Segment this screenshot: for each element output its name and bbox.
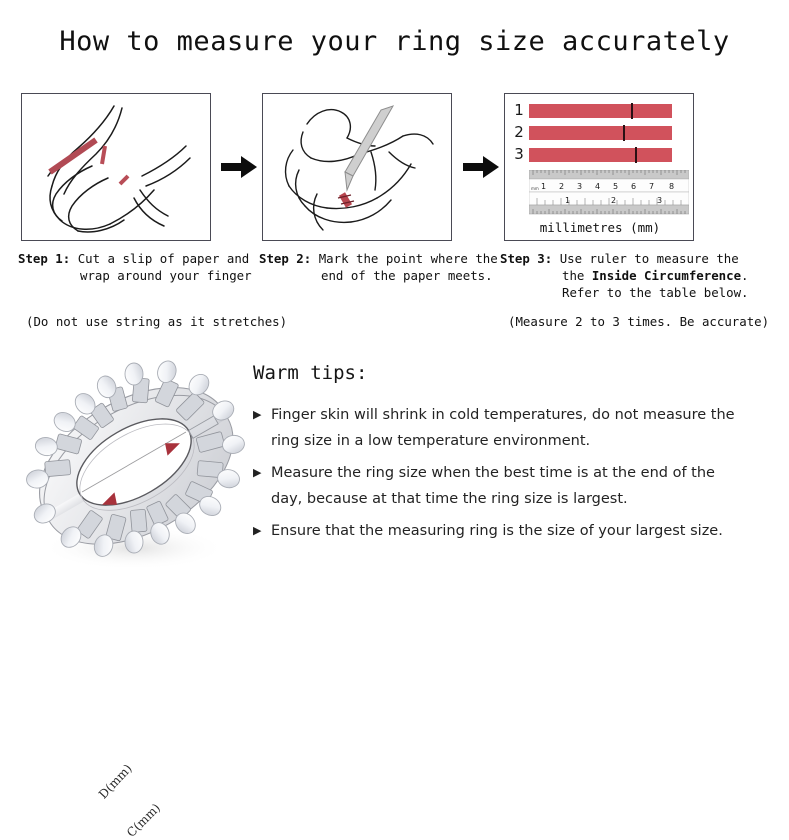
hand-marking-with-pen-icon — [263, 94, 451, 240]
tip-item: ▶ Finger skin will shrink in cold temper… — [253, 402, 773, 454]
tip-text: Finger skin will shrink in cold temperat… — [271, 402, 739, 454]
tip-text: Measure the ring size when the best time… — [271, 460, 739, 512]
triangle-bullet-icon: ▶ — [253, 518, 271, 544]
measured-paper-strips: 1 2 3 — [511, 102, 689, 168]
strip-mark — [623, 125, 625, 141]
svg-text:1: 1 — [565, 196, 570, 205]
ring-diameter-label: D(mm) — [96, 761, 135, 801]
step-arrow-2-icon — [461, 153, 501, 181]
ruler-illustration: 123 456 78 mm 123 — [529, 170, 689, 216]
step-3-line-2-prefix: the — [562, 268, 592, 283]
strip-number: 1 — [511, 103, 527, 118]
step-2-line-2: end of the paper meets. — [321, 268, 493, 283]
ruler-unit-caption: millimetres (mm) — [505, 220, 694, 235]
step-1-line-2: wrap around your finger — [80, 268, 252, 283]
strip-mark — [635, 147, 637, 163]
strip-row: 1 — [511, 102, 689, 119]
svg-text:2: 2 — [611, 196, 616, 205]
step-arrow-1-icon — [219, 153, 259, 181]
strip-row: 2 — [511, 124, 689, 141]
step-3-line-2-suffix: . — [741, 268, 748, 283]
warm-tips-section: Warm tips: ▶ Finger skin will shrink in … — [253, 362, 773, 550]
step-3-note: (Measure 2 to 3 times. Be accurate) — [508, 314, 769, 329]
svg-text:7: 7 — [649, 182, 654, 191]
step-2-caption: Step 2: Mark the point where the end of … — [259, 250, 509, 284]
svg-text:4: 4 — [595, 182, 600, 191]
inside-circumference-emphasis: Inside Circumference — [592, 268, 741, 283]
page-title: How to measure your ring size accurately — [0, 26, 789, 57]
svg-text:mm: mm — [531, 186, 539, 191]
strip-number: 2 — [511, 125, 527, 140]
step-2-illustration-panel — [262, 93, 452, 241]
ring-size-guide-page: How to measure your ring size accurately — [0, 0, 789, 606]
tip-item: ▶ Ensure that the measuring ring is the … — [253, 518, 773, 544]
svg-text:5: 5 — [613, 182, 618, 191]
tip-text: Ensure that the measuring ring is the si… — [271, 518, 723, 544]
strip-bar — [529, 126, 672, 140]
svg-text:2: 2 — [559, 182, 564, 191]
tip-item: ▶ Measure the ring size when the best ti… — [253, 460, 773, 512]
ring-circumference-label: C(mm) — [124, 801, 163, 840]
eternity-ring-illustration — [18, 352, 250, 586]
svg-text:8: 8 — [669, 182, 674, 191]
step-1-illustration-panel — [21, 93, 211, 241]
step-1-caption: Step 1: Cut a slip of paper and wrap aro… — [18, 250, 268, 284]
step-3-label: Step 3: — [500, 251, 552, 266]
svg-text:1: 1 — [541, 182, 546, 191]
step-1-note: (Do not use string as it stretches) — [26, 314, 287, 329]
svg-text:3: 3 — [657, 196, 662, 205]
step-3-line-3: Refer to the table below. — [562, 285, 749, 300]
step-2-line-1: Mark the point where the — [319, 251, 498, 266]
hand-with-paper-strip-icon — [22, 94, 210, 240]
step-3-caption: Step 3: Use ruler to measure the the Ins… — [500, 250, 750, 301]
strip-bar — [529, 104, 672, 118]
strip-number: 3 — [511, 147, 527, 162]
triangle-bullet-icon: ▶ — [253, 402, 271, 428]
step-2-label: Step 2: — [259, 251, 311, 266]
warm-tips-heading: Warm tips: — [253, 362, 773, 384]
step-1-label: Step 1: — [18, 251, 70, 266]
strip-row: 3 — [511, 146, 689, 163]
step-1-line-1: Cut a slip of paper and — [78, 251, 250, 266]
svg-text:6: 6 — [631, 182, 636, 191]
svg-text:3: 3 — [577, 182, 582, 191]
ring-diagram: D(mm) C(mm) — [18, 352, 250, 586]
strip-bar — [529, 148, 672, 162]
step-3-line-1: Use ruler to measure the — [560, 251, 739, 266]
strip-mark — [631, 103, 633, 119]
step-3-illustration-panel: 1 2 3 — [504, 93, 694, 241]
triangle-bullet-icon: ▶ — [253, 460, 271, 486]
steps-row: 1 2 3 — [0, 93, 789, 243]
